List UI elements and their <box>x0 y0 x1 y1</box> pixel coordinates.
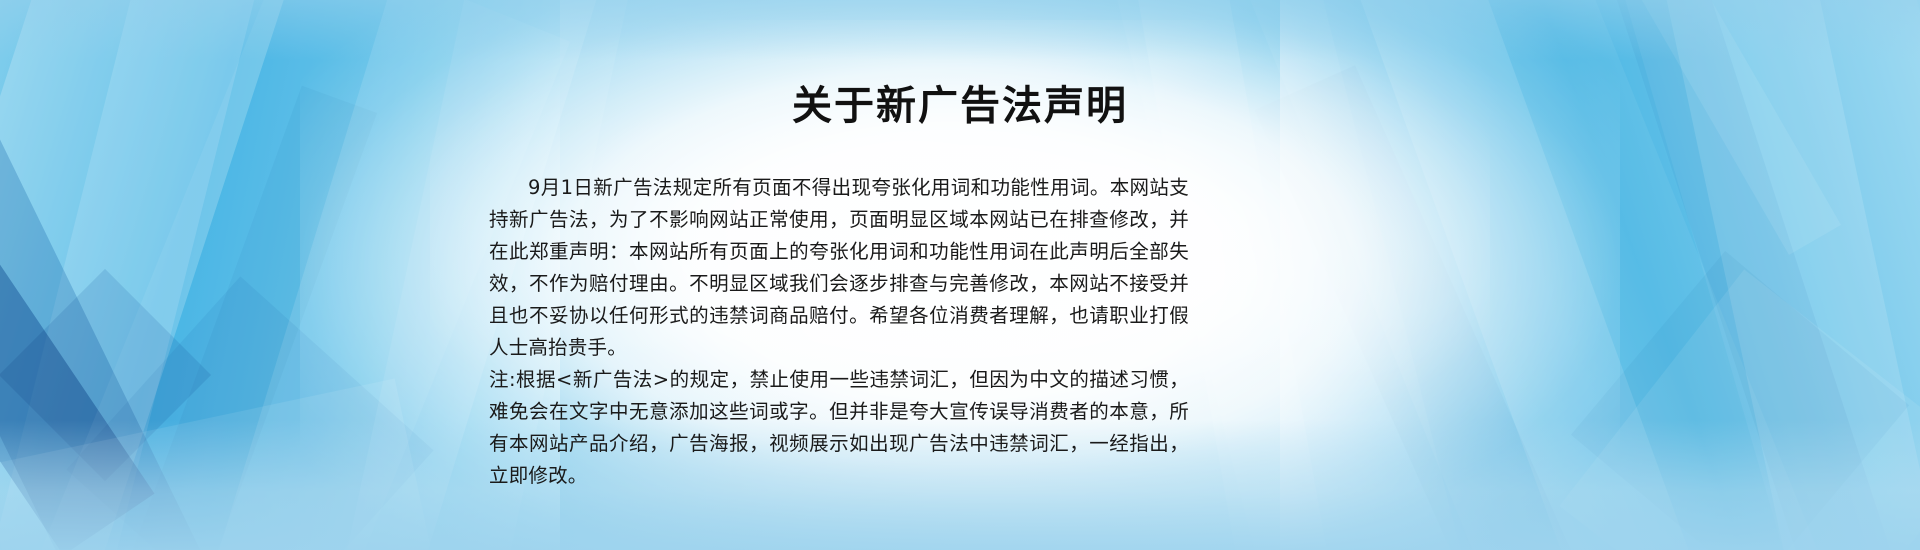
advertising-law-banner: 关于新广告法声明 9月1日新广告法规定所有页面不得出现夸张化用词和功能性用词。本… <box>0 0 1920 550</box>
statement-paragraph-main: 9月1日新广告法规定所有页面不得出现夸张化用词和功能性用词。本网站支持新广告法，… <box>489 172 1189 364</box>
statement-body: 9月1日新广告法规定所有页面不得出现夸张化用词和功能性用词。本网站支持新广告法，… <box>489 172 1189 492</box>
statement-paragraph-note: 注:根据<新广告法>的规定，禁止使用一些违禁词汇，但因为中文的描述习惯，难免会在… <box>489 364 1189 492</box>
page-title: 关于新广告法声明 <box>0 82 1920 130</box>
